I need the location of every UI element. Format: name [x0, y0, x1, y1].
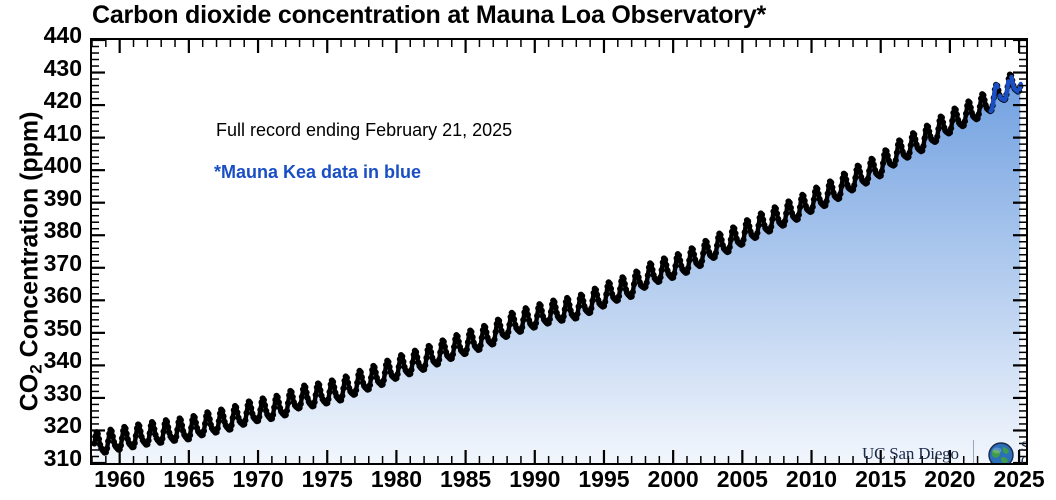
y-tick-label-380: 380	[44, 217, 82, 244]
y-tick-label-330: 330	[44, 380, 82, 407]
y-tick-label-360: 360	[44, 282, 82, 309]
y-tick-label-320: 320	[44, 412, 82, 439]
x-tick-label-1985: 1985	[440, 466, 491, 493]
x-tick-label-1975: 1975	[302, 466, 353, 493]
logo-block: UC San Diego SCRIPPSINSTITUTION OF OCEAN…	[862, 434, 1028, 465]
scripps-line-1: SCRIPPSINSTITUTION OF	[1021, 440, 1028, 455]
y-tick-label-340: 340	[44, 347, 82, 374]
y-axis-tick-labels: 3103203303403503603703803904004104204304…	[0, 0, 86, 500]
co2-chart-figure: Carbon dioxide concentration at Mauna Lo…	[0, 0, 1056, 500]
keeling-curve-plot	[92, 40, 1026, 463]
y-tick-label-410: 410	[44, 120, 82, 147]
y-tick-label-420: 420	[44, 87, 82, 114]
y-tick-label-440: 440	[44, 22, 82, 49]
y-tick-label-350: 350	[44, 315, 82, 342]
logo-divider	[973, 440, 974, 465]
uc-san-diego-logo: UC San Diego	[862, 444, 959, 465]
y-tick-label-390: 390	[44, 185, 82, 212]
y-tick-label-400: 400	[44, 152, 82, 179]
x-tick-label-1990: 1990	[509, 466, 560, 493]
x-tick-label-2020: 2020	[924, 466, 975, 493]
x-tick-label-1980: 1980	[371, 466, 422, 493]
x-tick-label-2025: 2025	[993, 466, 1044, 493]
page-title: Carbon dioxide concentration at Mauna Lo…	[92, 1, 1032, 30]
x-tick-label-1965: 1965	[163, 466, 214, 493]
x-tick-label-2000: 2000	[648, 466, 699, 493]
scripps-logo: SCRIPPSINSTITUTION OF OCEANOGRAPHY	[988, 440, 1028, 465]
scripps-wordmark: SCRIPPSINSTITUTION OF OCEANOGRAPHY	[1021, 440, 1028, 465]
x-tick-label-2015: 2015	[855, 466, 906, 493]
y-tick-label-430: 430	[44, 55, 82, 82]
plot-area: Full record ending February 21, 2025 *Ma…	[90, 38, 1028, 465]
y-tick-label-370: 370	[44, 250, 82, 277]
scripps-line-2: OCEANOGRAPHY	[1021, 455, 1028, 465]
scripps-name: SCRIPPS	[1021, 439, 1028, 455]
annotation-full-record: Full record ending February 21, 2025	[216, 120, 512, 141]
x-tick-label-1995: 1995	[578, 466, 629, 493]
x-tick-label-2005: 2005	[717, 466, 768, 493]
x-tick-label-2010: 2010	[786, 466, 837, 493]
x-axis-tick-labels: 1960196519701975198019851990199520002005…	[0, 466, 1056, 500]
globe-icon	[988, 442, 1014, 465]
x-tick-label-1960: 1960	[94, 466, 145, 493]
x-tick-label-1970: 1970	[232, 466, 283, 493]
annotation-mauna-kea-note: *Mauna Kea data in blue	[214, 162, 421, 183]
